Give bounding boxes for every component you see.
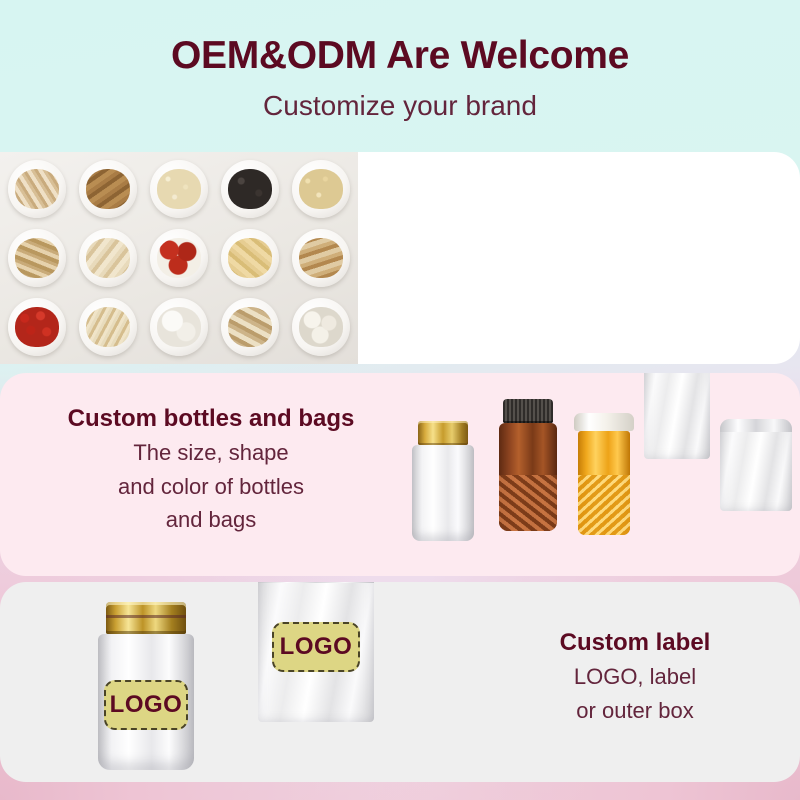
ingredient-bowl [286, 293, 356, 361]
ingredient-bowl [2, 155, 72, 223]
card-description-line: or outer box [480, 692, 790, 726]
ingredient-bowl [2, 293, 72, 361]
silver-stand-up-pouch-large [720, 419, 792, 511]
card-custom-label-text: Custom label LOGO, label or outer box [480, 628, 790, 725]
card-custom-bottles-and-bags: Custom bottles and bags The size, shape … [0, 373, 800, 576]
ingredient-bowl [73, 293, 143, 361]
ingredient-bowl [215, 155, 285, 223]
product-lineup [404, 381, 796, 569]
silver-stand-up-pouch-small [644, 373, 710, 459]
ingredient-bowl [144, 293, 214, 361]
card-description-line: LOGO, label [480, 658, 790, 692]
card-title: Custom bottles and bags [22, 404, 400, 434]
card-custom-label: LOGO LOGO Custom label LOGO, label or ou… [0, 582, 800, 782]
black-cap [503, 399, 553, 423]
vial-body [578, 431, 630, 535]
ingredient-bowl [215, 293, 285, 361]
bottle-body [412, 445, 474, 541]
bottle-body [499, 423, 557, 531]
gold-cap [418, 421, 468, 445]
orange-pill-vial-white-cap [576, 413, 632, 535]
labelled-product-lineup: LOGO LOGO [60, 582, 460, 782]
gold-cap [106, 602, 186, 634]
bottle-body: LOGO [98, 634, 194, 770]
ingredient-bowl [2, 224, 72, 292]
silver-stand-up-pouch-with-logo: LOGO [258, 582, 374, 722]
ingredient-bowl [144, 155, 214, 223]
white-bottle-gold-cap-with-logo: LOGO [98, 602, 194, 770]
logo-placeholder-label: LOGO [272, 622, 360, 672]
card-custom-ingredients: Custom ingredients Custom herbsor other … [0, 152, 800, 364]
white-bottle-gold-cap [412, 421, 474, 541]
ingredient-bowl [73, 155, 143, 223]
ingredient-bowl [215, 224, 285, 292]
logo-placeholder-label: LOGO [104, 680, 188, 730]
card-title: Custom label [480, 628, 790, 658]
amber-bottle-black-cap [499, 399, 557, 531]
ingredient-bowl [73, 224, 143, 292]
page-subtitle: Customize your brand [0, 77, 800, 120]
herbal-ingredients-tray-photo [0, 152, 358, 364]
page-title: OEM&ODM Are Welcome [0, 0, 800, 77]
promo-poster: OEM&ODM Are Welcome Customize your brand [0, 0, 800, 800]
ingredient-bowl [286, 155, 356, 223]
card-custom-bottles-text: Custom bottles and bags The size, shape … [22, 404, 400, 535]
card-description-line: and bags [22, 501, 400, 535]
card-description-line: and color of bottles [22, 468, 400, 502]
ingredient-bowl [144, 224, 214, 292]
ingredient-bowl [286, 224, 356, 292]
card-description-line: The size, shape [22, 434, 400, 468]
white-cap [574, 413, 634, 431]
poster-header: OEM&ODM Are Welcome Customize your brand [0, 0, 800, 152]
